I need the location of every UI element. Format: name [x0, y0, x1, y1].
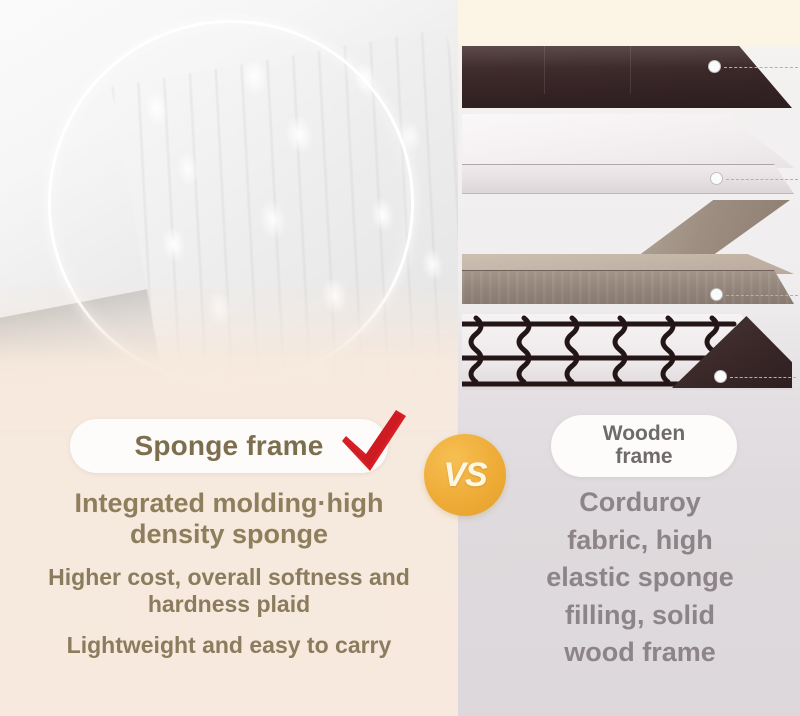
sponge-frame-label: Sponge frame: [134, 430, 323, 462]
sponge-feature-line-2: density sponge: [0, 519, 458, 550]
wood-diagonal-beam: [630, 200, 790, 262]
fabric-seam: [630, 46, 631, 94]
sponge-frame-features: Integrated molding·high density sponge H…: [0, 488, 458, 659]
callout-dot-wood: [710, 288, 723, 301]
vs-badge: VS: [424, 434, 506, 516]
sponge-feature-line-4: hardness plaid: [0, 591, 458, 618]
sponge-feature-line-5: Lightweight and easy to carry: [0, 632, 458, 659]
fabric-sheen: [462, 46, 792, 68]
wooden-feature-line-5: wood frame: [480, 634, 800, 672]
callout-line-fabric: [724, 67, 798, 68]
callout-line-wood: [726, 295, 798, 296]
comparison-graphic: VS Sponge frame Wooden frame Integrated …: [0, 0, 800, 716]
wooden-frame-label-line-1: Wooden: [603, 423, 685, 446]
check-mark-icon: [336, 408, 410, 474]
wooden-frame-label-line-2: frame: [615, 446, 672, 469]
wooden-frame-label-pill: Wooden frame: [551, 415, 737, 477]
vs-badge-label: VS: [443, 458, 486, 492]
wood-front-rail: [462, 270, 794, 304]
diagram-layer-wood-frame: [462, 202, 794, 308]
diagram-layer-springs: [462, 314, 794, 394]
wooden-feature-line-4: filling, solid: [480, 597, 800, 635]
diagram-layer-fabric: [462, 46, 792, 108]
callout-dot-fabric: [708, 60, 721, 73]
wooden-feature-line-1: Corduroy: [480, 484, 800, 522]
sponge-top-face: [462, 114, 794, 168]
fabric-seam: [544, 46, 545, 94]
exploded-sofa-frame-diagram: [458, 46, 800, 396]
wooden-feature-line-3: elastic sponge: [480, 559, 800, 597]
diagram-layer-sponge: [462, 114, 794, 196]
wood-grain-texture: [462, 271, 794, 304]
wooden-feature-line-2: fabric, high: [480, 522, 800, 560]
callout-dot-sponge: [710, 172, 723, 185]
wooden-frame-features: Corduroy fabric, high elastic sponge fil…: [480, 484, 800, 672]
callout-line-springs: [730, 377, 796, 378]
callout-dot-springs: [714, 370, 727, 383]
callout-line-sponge: [726, 179, 798, 180]
sponge-feature-line-1: Integrated molding·high: [0, 488, 458, 519]
sponge-feature-line-3: Higher cost, overall softness and: [0, 564, 458, 591]
